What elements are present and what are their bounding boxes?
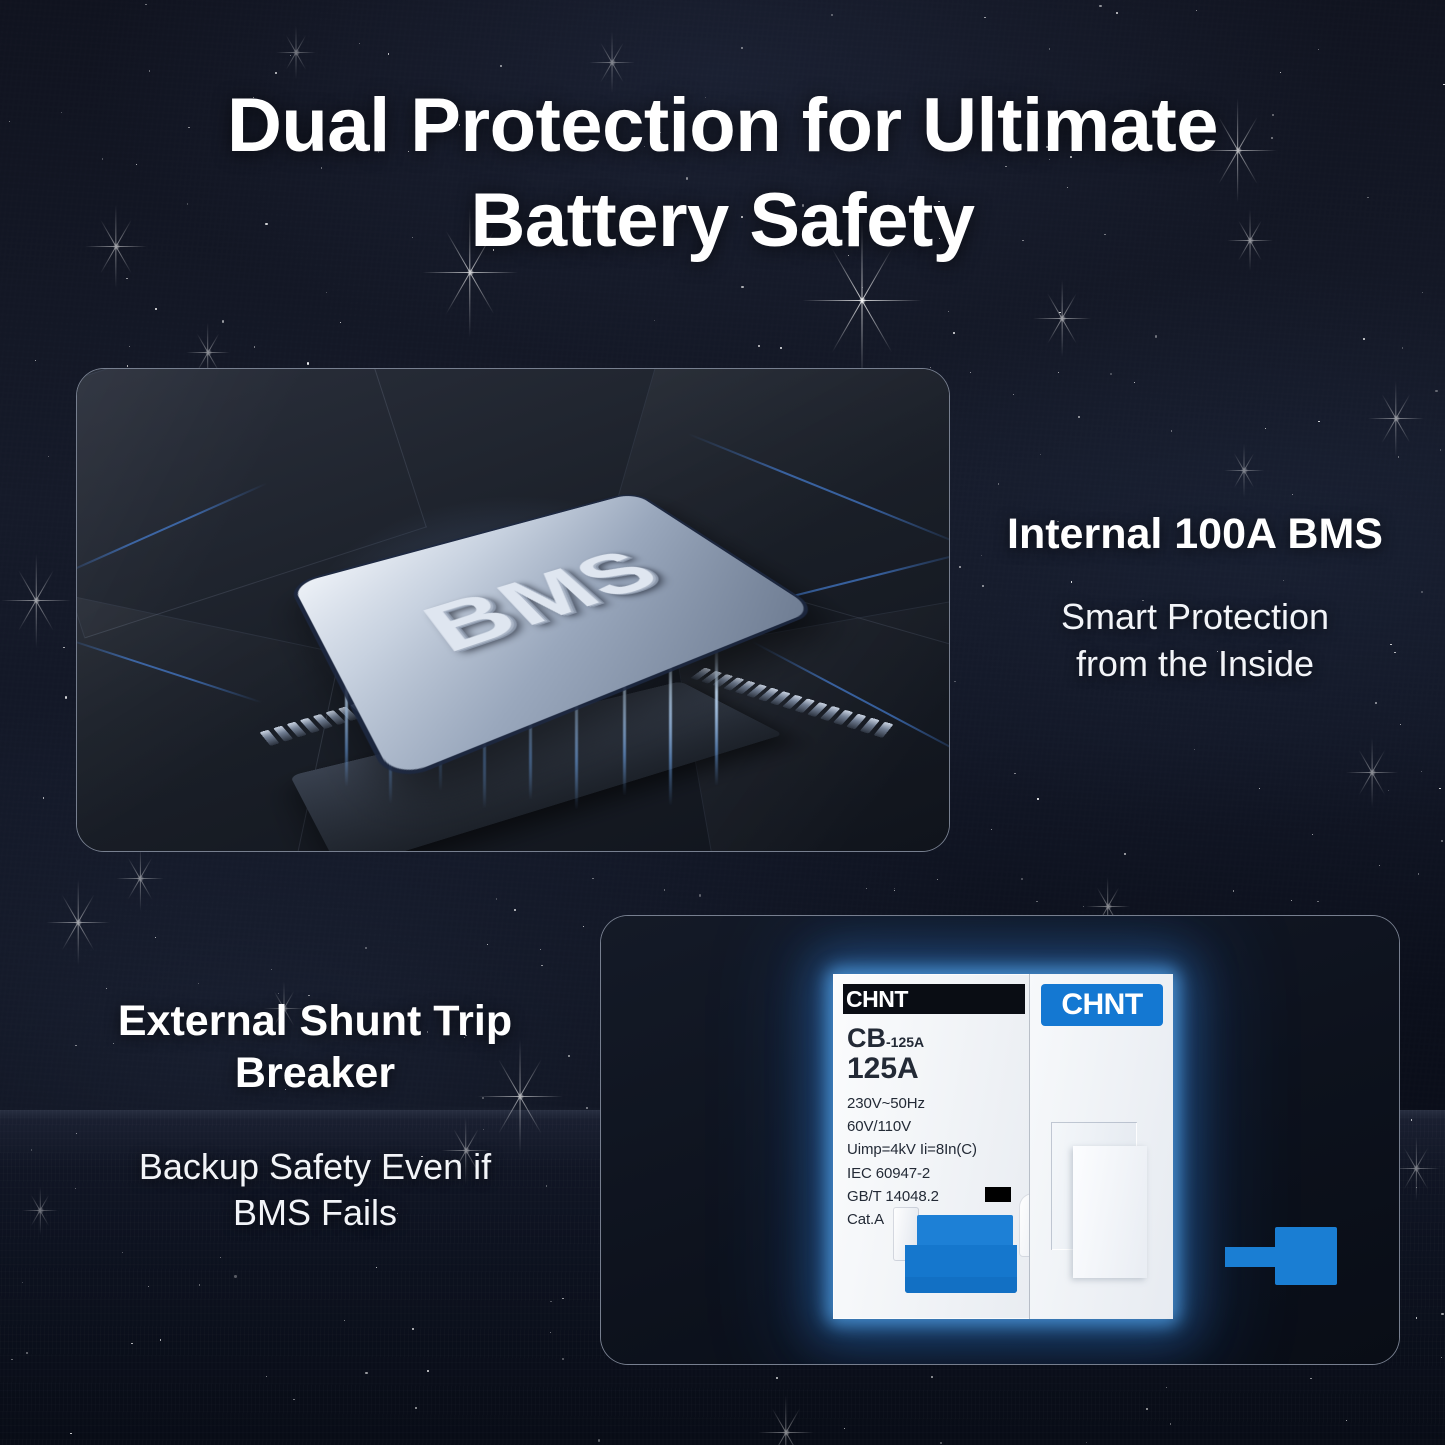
brand-label-blue: CHNT [1061,990,1142,1020]
bms-feature-title: Internal 100A BMS [960,508,1430,560]
breaker-indicator-window [985,1187,1011,1202]
breaker-model-code: CB [847,1023,886,1053]
breaker-toggle-right[interactable] [1275,1227,1337,1285]
breaker-feature-title: External Shunt Trip Breaker [30,995,600,1100]
breaker-feature-subtitle: Backup Safety Even if BMS Fails [30,1144,600,1236]
bms-image-card: BMS [76,368,950,852]
breaker-toggle-left[interactable] [905,1215,1015,1293]
brand-label-black: CHNT [846,988,908,1011]
page-title: Dual Protection for Ultimate Battery Saf… [0,78,1445,268]
breaker-spec-line: IEC 60947-2 [847,1162,1023,1185]
breaker-image-card: CHNT CB-125A 125A 230V~50Hz 60V/110V Uim… [600,915,1400,1365]
breaker-spec-line: 230V~50Hz [847,1092,1023,1115]
breaker-rating: 125A [847,1052,1023,1087]
bms-feature-copy: Internal 100A BMS Smart Protection from … [960,508,1430,687]
breaker-spec-line: 60V/110V [847,1115,1023,1138]
breaker-model-suffix: -125A [886,1034,924,1050]
breaker-feature-copy: External Shunt Trip Breaker Backup Safet… [30,995,600,1236]
chip-label: BMS [407,538,682,669]
breaker-model: CB-125A [847,1024,1023,1052]
breaker-illustration: CHNT CB-125A 125A 230V~50Hz 60V/110V Uim… [601,916,1399,1364]
poster-root: Dual Protection for Ultimate Battery Saf… [0,0,1445,1445]
brand-badge-blue: CHNT [1041,984,1163,1026]
circuit-breaker-device: CHNT CB-125A 125A 230V~50Hz 60V/110V Uim… [833,974,1173,1319]
brand-bar-black: CHNT [843,984,1025,1014]
breaker-module-right: CHNT [1029,974,1173,1319]
breaker-module-left: CHNT CB-125A 125A 230V~50Hz 60V/110V Uim… [833,974,1029,1319]
bms-feature-subtitle: Smart Protection from the Inside [960,594,1430,686]
breaker-recess-lower [1073,1146,1147,1278]
bms-chip-illustration: BMS [77,369,949,851]
breaker-spec-line: Uimp=4kV Ii=8In(C) [847,1138,1023,1161]
